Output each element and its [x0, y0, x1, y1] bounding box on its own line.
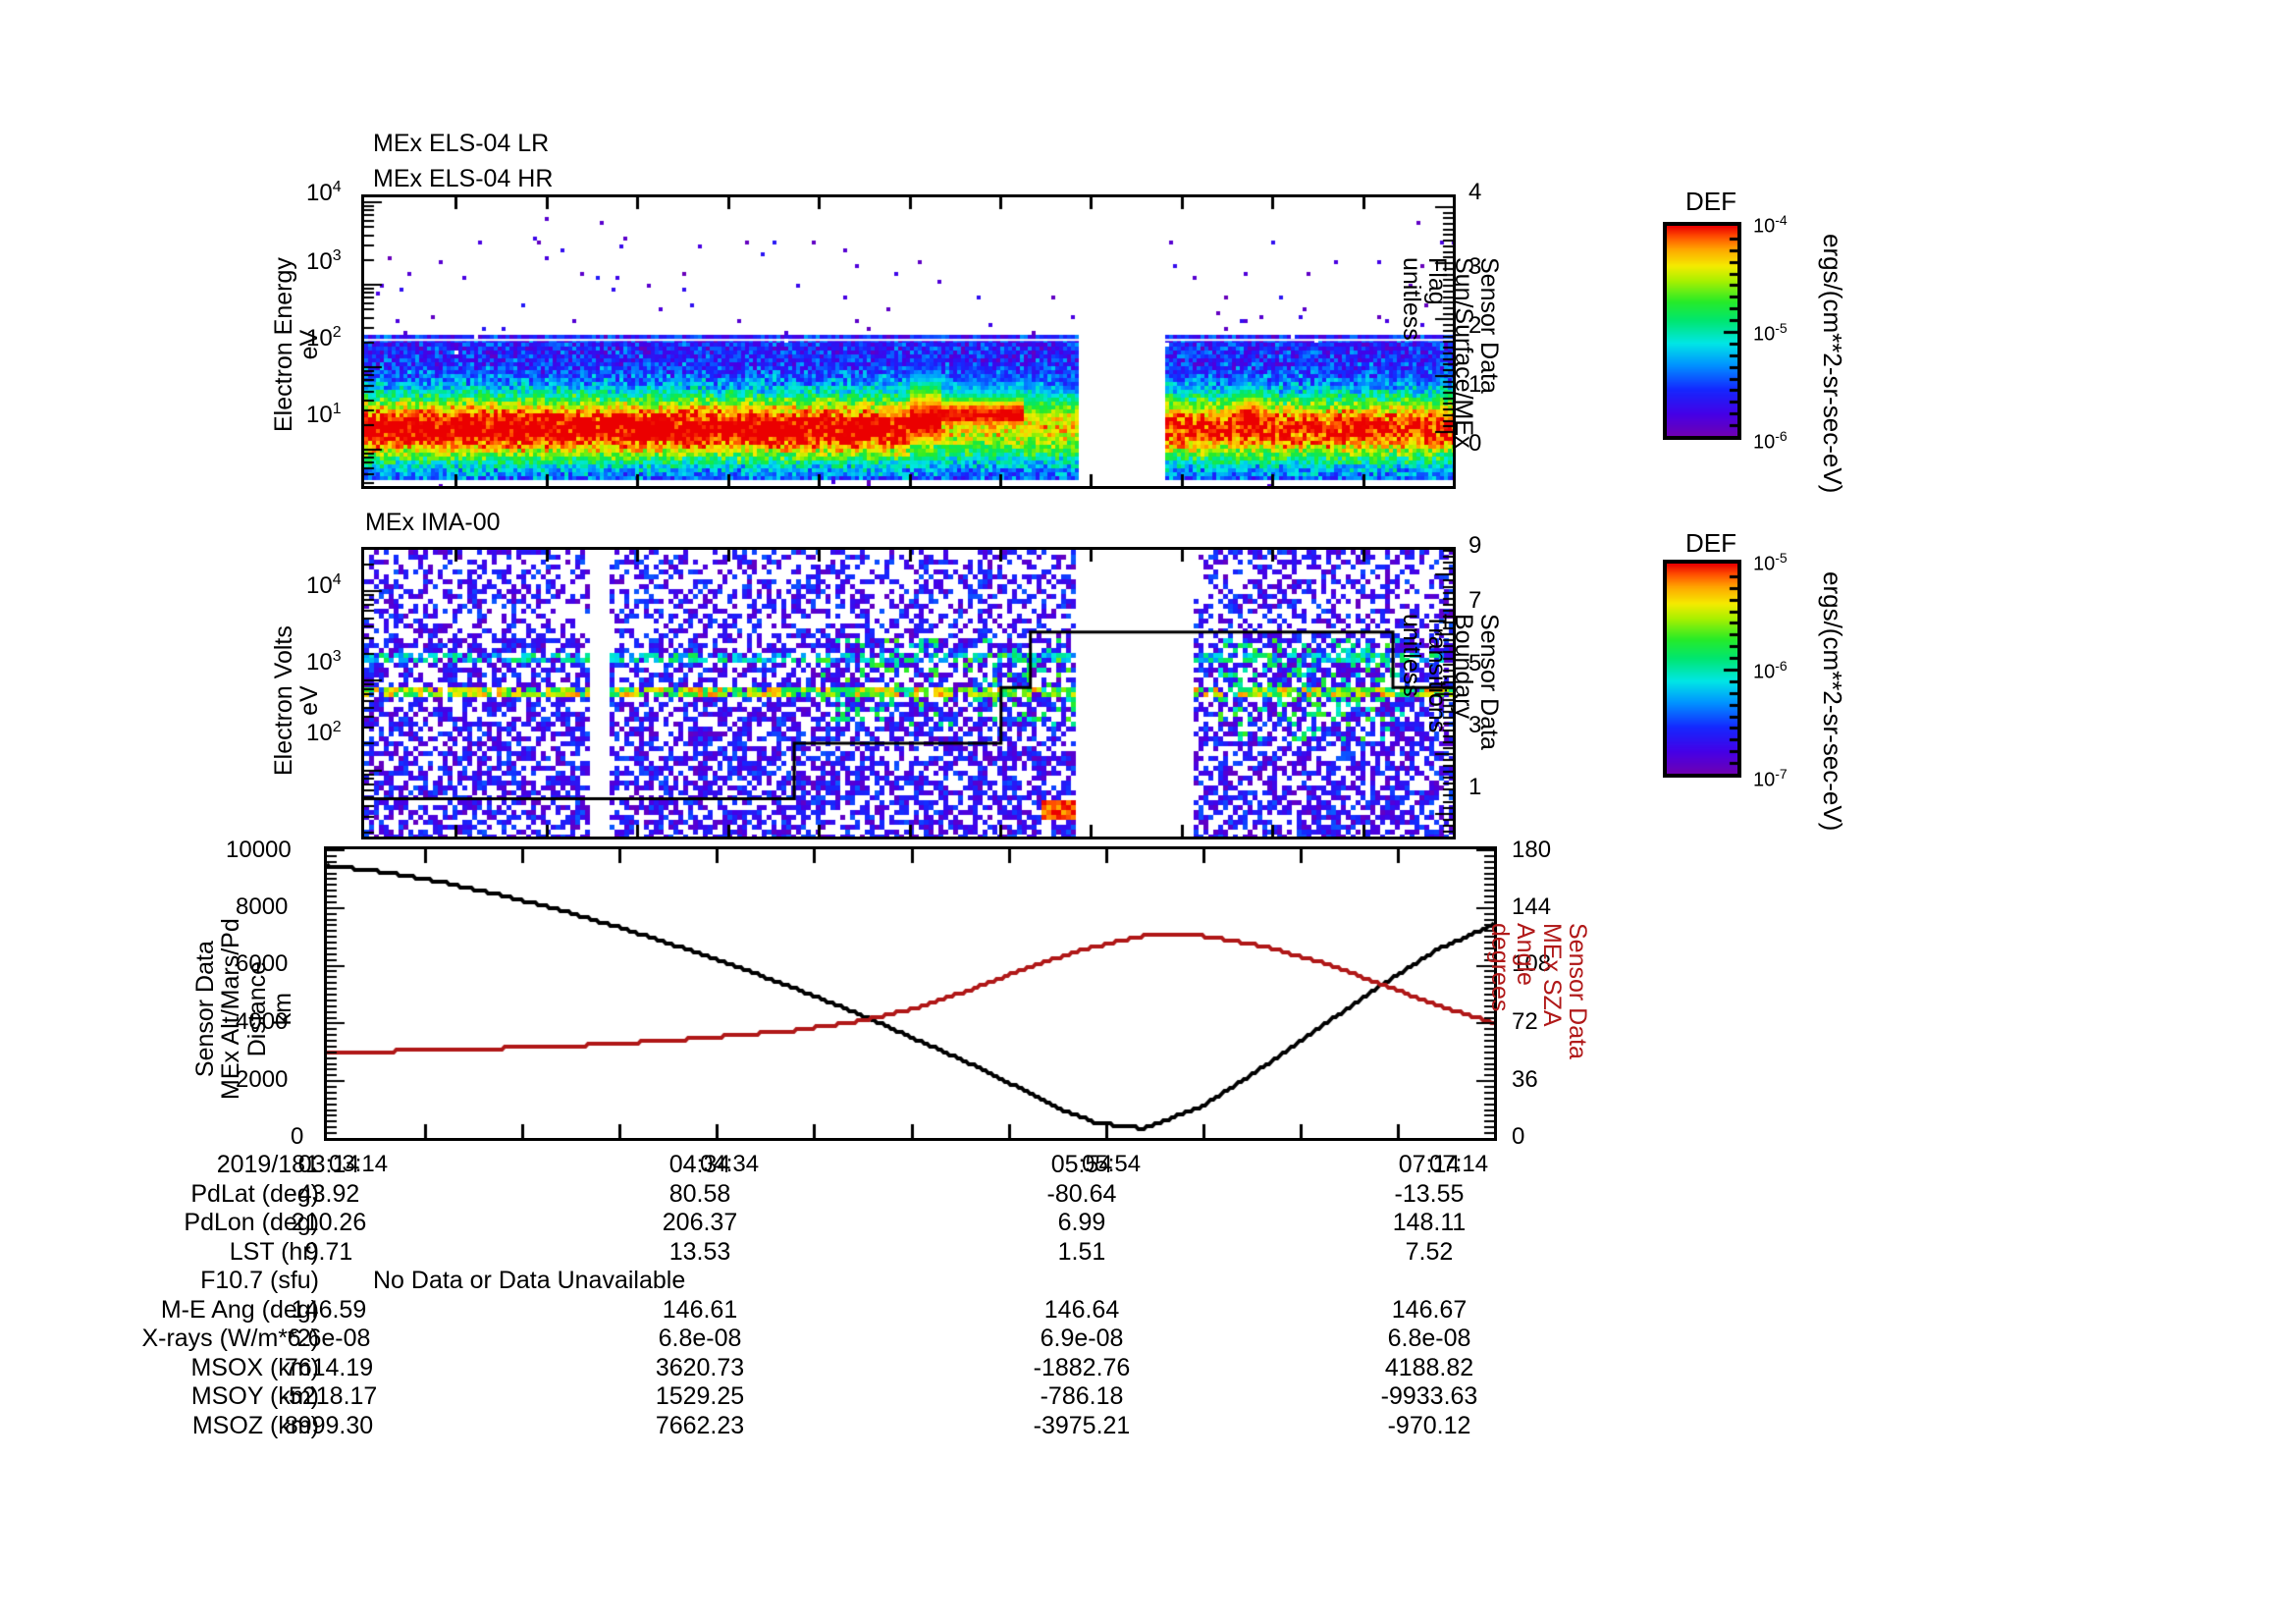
- panel-els-ylabel-left-line-0: Electron Energy: [271, 257, 296, 432]
- panel-ima-ytick-left-0: 104: [306, 571, 342, 600]
- table-cell: -1882.76: [1013, 1354, 1150, 1382]
- panel-alt-ytick-left-1: 8000: [236, 893, 288, 921]
- panel-els-ytick-left-1: 103: [306, 247, 342, 276]
- panel-alt-ytick-right-5: 0: [1512, 1123, 1524, 1151]
- table-cell: 146.67: [1361, 1296, 1498, 1325]
- colorbar-1-mid-label: 10-5: [1753, 320, 1788, 347]
- panel-ima-title: MEx IMA-00: [365, 509, 501, 537]
- table-cell: -9933.63: [1361, 1382, 1498, 1411]
- table-cell: 4188.82: [1361, 1354, 1498, 1382]
- panel-ima-ylabel-right-line-0: Sensor Data: [1476, 614, 1502, 750]
- panel-ima-ytick-left-2: 102: [306, 719, 342, 747]
- table-cell: 3620.73: [631, 1354, 769, 1382]
- panel-els-ytick-left-2: 102: [306, 324, 342, 352]
- panel-alt-ylabel-right: Sensor Data MEx SZA Angle degrees: [1487, 923, 1590, 1059]
- table-cell: 04:34: [631, 1151, 769, 1179]
- colorbar-1-unit-text: ergs/(cm**2-sr-sec-eV): [1819, 234, 1845, 493]
- table-cell: 210.26: [260, 1209, 398, 1237]
- panel-ima-ylabel-left-line-0: Electron Volts: [271, 625, 296, 776]
- panel-ima-plot: [361, 547, 1456, 839]
- colorbar-1-bottom-label: 10-6: [1753, 428, 1788, 455]
- table-cell: 1529.25: [631, 1382, 769, 1411]
- table-cell: 1.51: [1013, 1238, 1150, 1267]
- table-cell: 9.71: [260, 1238, 398, 1267]
- colorbar-2-mid-label: 10-6: [1753, 658, 1788, 684]
- colorbar-1-top-label: 10-4: [1753, 212, 1788, 239]
- panel-ima-ytick-right-4: 1: [1468, 774, 1481, 801]
- panel-ima-ylabel-right-line-3: unitless: [1399, 614, 1424, 750]
- panel-alt-plot: [324, 846, 1497, 1141]
- panel-els-title-lr: MEx ELS-04 LR: [373, 130, 549, 158]
- panel-alt-ylabel-right-line-3: degrees: [1487, 923, 1513, 1059]
- panel-ima-ytick-right-0: 9: [1468, 532, 1481, 560]
- panel-alt-ylabel-right-line-0: Sensor Data: [1565, 923, 1590, 1059]
- table-cell: -970.12: [1361, 1412, 1498, 1440]
- panel-alt-ylabel-left-line-0: Sensor Data: [192, 918, 218, 1100]
- panel-alt-ytick-left-3: 4000: [236, 1008, 288, 1036]
- table-cell: 03:14: [260, 1151, 398, 1179]
- panel-alt-ylabel-right-line-1: MEx SZA: [1539, 923, 1565, 1059]
- table-cell: 6.99: [1013, 1209, 1150, 1237]
- panel-alt-ylabel-right-line-2: Angle: [1513, 923, 1538, 1059]
- table-cell: 8999.30: [260, 1412, 398, 1440]
- table-cell: 6.9e-08: [1013, 1325, 1150, 1353]
- table-cell: 7662.23: [631, 1412, 769, 1440]
- colorbar-2-unit-text: ergs/(cm**2-sr-sec-eV): [1819, 571, 1845, 831]
- table-cell: 206.37: [631, 1209, 769, 1237]
- panel-alt-ytick-right-4: 36: [1512, 1066, 1538, 1094]
- panel-els-ytick-left-3: 101: [306, 401, 342, 429]
- table-cell: -13.55: [1361, 1180, 1498, 1209]
- table-cell: -5218.17: [260, 1382, 398, 1411]
- panel-ima-ylabel-right-line-2: Transitions: [1424, 614, 1450, 750]
- table-cell: -3975.21: [1013, 1412, 1150, 1440]
- panel-els-ylabel-right-line-2: Flag: [1424, 257, 1450, 449]
- colorbar-1-title: DEF: [1685, 187, 1736, 217]
- colorbar-2-unit-label: ergs/(cm**2-sr-sec-eV): [1819, 571, 1845, 831]
- colorbar-2-box: [1663, 560, 1741, 778]
- colorbar-2-title: DEF: [1685, 528, 1736, 559]
- panel-alt-ytick-right-1: 144: [1512, 893, 1551, 921]
- panel-els-ytick-left-0: 104: [306, 179, 342, 207]
- table-cell: 7614.19: [260, 1354, 398, 1382]
- table-cell: No Data or Data Unavailable: [373, 1267, 685, 1295]
- panel-els-ylabel-right-line-3: unitless: [1399, 257, 1424, 449]
- panel-els-title-hr: MEx ELS-04 HR: [373, 165, 553, 193]
- colorbar-2-top-label: 10-5: [1753, 550, 1788, 576]
- table-cell: 6.8e-08: [1361, 1325, 1498, 1353]
- table-cell: 7.52: [1361, 1238, 1498, 1267]
- colorbar-1-unit-label: ergs/(cm**2-sr-sec-eV): [1819, 234, 1845, 493]
- panel-els-ytick-right-0: 4: [1468, 179, 1481, 206]
- panel-els-ylabel-right-line-1: Sun/Surface/MEx: [1451, 257, 1476, 449]
- panel-els-plot: [361, 194, 1456, 489]
- table-row-label: F10.7 (sfu): [0, 1267, 319, 1295]
- panel-ima-ytick-left-1: 103: [306, 648, 342, 676]
- panel-ima-ylabel-right-line-1: Boundary: [1451, 614, 1476, 750]
- panel-alt-ytick-right-0: 180: [1512, 837, 1551, 864]
- table-cell: 146.64: [1013, 1296, 1150, 1325]
- panel-alt-ytick-left-0: 10000: [226, 837, 292, 864]
- table-cell: 43.92: [260, 1180, 398, 1209]
- table-cell: -786.18: [1013, 1382, 1150, 1411]
- panel-els-ylabel-right-line-0: Sensor Data: [1476, 257, 1502, 449]
- table-cell: 07:14: [1361, 1151, 1498, 1179]
- table-cell: 05:54: [1013, 1151, 1150, 1179]
- table-cell: 146.59: [260, 1296, 398, 1325]
- panel-alt-ytick-left-5: 0: [291, 1123, 303, 1151]
- panel-alt-ytick-left-4: 2000: [236, 1066, 288, 1094]
- panel-ima-ylabel-right: Sensor Data Boundary Transitions unitles…: [1399, 614, 1502, 750]
- table-cell: 146.61: [631, 1296, 769, 1325]
- table-cell: -80.64: [1013, 1180, 1150, 1209]
- colorbar-2-bottom-label: 10-7: [1753, 766, 1788, 792]
- colorbar-1-box: [1663, 222, 1741, 440]
- panel-ima-ytick-right-1: 7: [1468, 587, 1481, 615]
- panel-alt-ytick-left-2: 6000: [236, 950, 288, 978]
- table-cell: 80.58: [631, 1180, 769, 1209]
- panel-els-ylabel-right: Sensor Data Sun/Surface/MEx Flag unitles…: [1399, 257, 1502, 449]
- table-cell: 6.8e-08: [631, 1325, 769, 1353]
- table-cell: 6.6e-08: [260, 1325, 398, 1353]
- table-cell: 148.11: [1361, 1209, 1498, 1237]
- table-cell: 13.53: [631, 1238, 769, 1267]
